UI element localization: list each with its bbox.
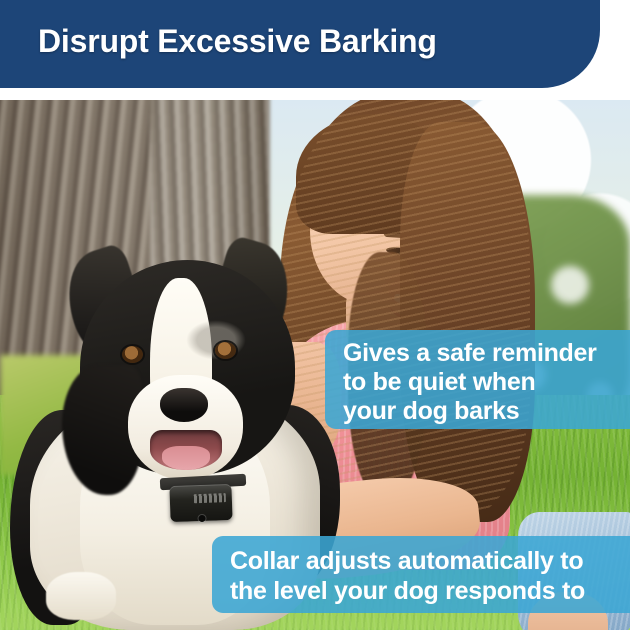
callout-line: Gives a safe reminder (343, 339, 630, 368)
page-title: Disrupt Excessive Barking (38, 23, 437, 60)
callout-line: to be quiet when (343, 368, 630, 397)
callout-gives-safe-reminder: Gives a safe reminder to be quiet when y… (325, 330, 630, 429)
collar-device-label (194, 493, 226, 503)
callout-line: the level your dog responds to (230, 576, 630, 606)
callout-collar-adjusts: Collar adjusts automatically to the leve… (212, 536, 630, 613)
dog-eye-left (122, 346, 143, 363)
bark-collar-device (169, 484, 232, 522)
callout-line: Collar adjusts automatically to (230, 546, 630, 576)
header-banner: Disrupt Excessive Barking (0, 0, 630, 102)
callout-line: your dog barks (343, 397, 630, 426)
banner-navy-panel (0, 0, 600, 88)
dog-eye-right (215, 342, 236, 359)
dog-paw (46, 572, 116, 620)
banner-accent-stripe (0, 0, 600, 102)
product-feature-image: Disrupt Excessive Barking Gives a safe r… (0, 0, 630, 630)
dog-nose (160, 388, 208, 422)
dog-tongue (162, 446, 210, 470)
